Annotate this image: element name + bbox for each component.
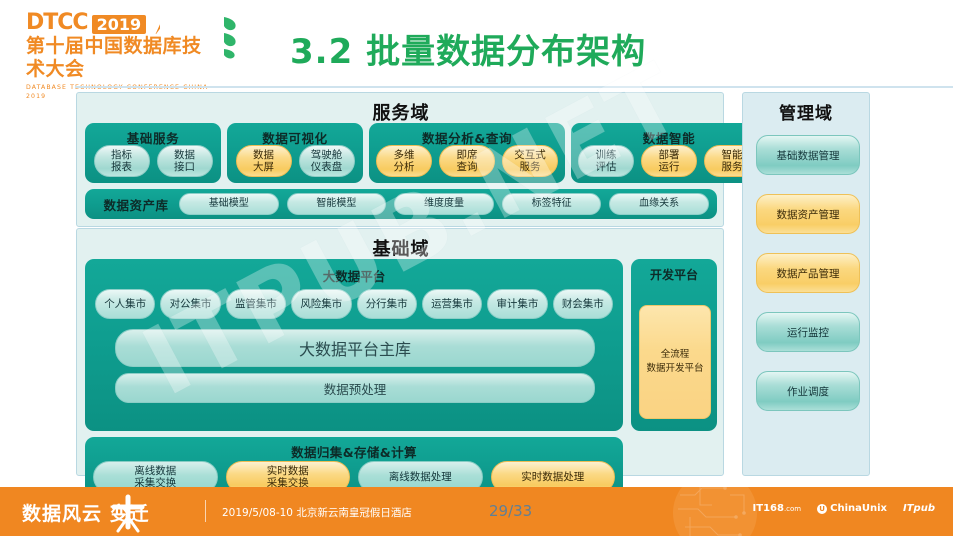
service-item-button[interactable]: 即席查询	[439, 145, 495, 177]
base-domain-panel: 基础域 大数据平台 个人集市对公集市监管集市风险集市分行集市运营集市审计集市财会…	[76, 228, 724, 476]
service-item-button[interactable]: 训练评估	[578, 145, 634, 177]
data-asset-library-label: 数据资产库	[93, 195, 179, 214]
market-pill[interactable]: 监管集市	[226, 289, 286, 319]
management-item-button[interactable]: 数据产品管理	[756, 253, 860, 293]
service-group-items: 数据大屏驾驶舱仪表盘	[227, 145, 363, 179]
dev-platform-title: 开发平台	[631, 266, 717, 283]
management-domain-title: 管理域	[743, 99, 869, 124]
market-pill[interactable]: 对公集市	[160, 289, 220, 319]
market-pill[interactable]: 风险集市	[291, 289, 351, 319]
dtcc-logo: DTCC 2019 第十届中国数据库技术大会 DATABASE TECHNOLO…	[26, 12, 216, 68]
service-group-items: 多维分析即席查询交互式服务	[369, 145, 565, 179]
market-pill[interactable]: 个人集市	[95, 289, 155, 319]
service-item-button[interactable]: 数据接口	[157, 145, 213, 177]
service-item-button[interactable]: 指标报表	[94, 145, 150, 177]
preprocess-bar: 数据预处理	[115, 373, 595, 403]
base-domain-title: 基础域	[77, 235, 725, 261]
it168-logo: IT168.com	[753, 503, 802, 514]
data-asset-item[interactable]: 血缘关系	[609, 193, 709, 215]
data-asset-item[interactable]: 维度度量	[394, 193, 494, 215]
management-item-button[interactable]: 数据资产管理	[756, 194, 860, 234]
footer-divider	[205, 500, 206, 522]
service-domain-groups: 基础服务指标报表数据接口数据可视化数据大屏驾驶舱仪表盘数据分析&查询多维分析即席…	[85, 123, 717, 183]
market-pill-row: 个人集市对公集市监管集市风险集市分行集市运营集市审计集市财会集市	[95, 289, 613, 319]
leaf-icon	[222, 14, 238, 60]
data-asset-item[interactable]: 智能模型	[287, 193, 387, 215]
service-item-button[interactable]: 多维分析	[376, 145, 432, 177]
service-group-card: 基础服务指标报表数据接口	[85, 123, 221, 183]
service-group-card: 数据智能训练评估部署运行智能服务	[571, 123, 767, 183]
service-item-button[interactable]: 部署运行	[641, 145, 697, 177]
service-group-card: 数据分析&查询多维分析即席查询交互式服务	[369, 123, 565, 183]
logo-top-row: DTCC 2019	[26, 12, 216, 34]
footer-logos: IT168.com U ChinaUnix ITpub	[753, 503, 935, 514]
management-domain-items: 基础数据管理数据资产管理数据产品管理运行监控作业调度	[756, 135, 858, 430]
dev-platform-card: 开发平台 全流程数据开发平台	[631, 259, 717, 431]
management-domain-panel: 管理域 基础数据管理数据资产管理数据产品管理运行监控作业调度	[742, 92, 870, 476]
dev-platform-box[interactable]: 全流程数据开发平台	[639, 305, 711, 419]
market-pill[interactable]: 运营集市	[422, 289, 482, 319]
logo-chinese-title: 第十届中国数据库技术大会	[26, 35, 216, 81]
footer-event-info: 2019/5/08-10 北京新云南皇冠假日酒店	[222, 505, 412, 520]
page-title: 3.2 批量数据分布架构	[290, 24, 646, 73]
service-group-card: 数据可视化数据大屏驾驶舱仪表盘	[227, 123, 363, 183]
collect-storage-compute-title: 数据归集&存储&计算	[85, 442, 623, 461]
itpub-logo: ITpub	[903, 503, 935, 514]
slide-footer: 数据风云 变迁 2019/5/08-10 北京新云南皇冠假日酒店 29/33 I…	[0, 487, 953, 536]
service-item-button[interactable]: 数据大屏	[236, 145, 292, 177]
slide-header: DTCC 2019 第十届中国数据库技术大会 DATABASE TECHNOLO…	[0, 0, 953, 88]
management-item-button[interactable]: 基础数据管理	[756, 135, 860, 175]
bigdata-platform-title: 大数据平台	[85, 266, 623, 285]
market-pill[interactable]: 财会集市	[553, 289, 613, 319]
bigdata-platform-card: 大数据平台 个人集市对公集市监管集市风险集市分行集市运营集市审计集市财会集市 大…	[85, 259, 623, 431]
service-domain-panel: 服务域 基础服务指标报表数据接口数据可视化数据大屏驾驶舱仪表盘数据分析&查询多维…	[76, 92, 724, 227]
service-group-2: 数据分析&查询多维分析即席查询交互式服务	[369, 123, 565, 183]
data-asset-library-bar: 数据资产库 基础模型智能模型维度度量标签特征血缘关系	[85, 189, 717, 219]
service-group-items: 训练评估部署运行智能服务	[571, 145, 767, 179]
market-pill[interactable]: 分行集市	[357, 289, 417, 319]
service-group-3: 数据智能训练评估部署运行智能服务	[571, 123, 767, 183]
service-item-button[interactable]: 交互式服务	[502, 145, 558, 177]
chinaunix-logo: U ChinaUnix	[817, 503, 887, 514]
service-item-button[interactable]: 驾驶舱仪表盘	[299, 145, 355, 177]
market-pill[interactable]: 审计集市	[487, 289, 547, 319]
service-domain-title: 服务域	[77, 99, 725, 125]
data-asset-library-card: 数据资产库 基础模型智能模型维度度量标签特征血缘关系	[85, 189, 717, 219]
page-number: 29/33	[489, 502, 532, 520]
service-group-items: 指标报表数据接口	[85, 145, 221, 179]
data-asset-library-items: 基础模型智能模型维度度量标签特征血缘关系	[179, 193, 709, 215]
service-group-0: 基础服务指标报表数据接口	[85, 123, 221, 183]
main-store-bar: 大数据平台主库	[115, 329, 595, 367]
data-asset-item[interactable]: 标签特征	[502, 193, 602, 215]
header-divider	[75, 86, 953, 88]
chinaunix-mark-icon: U	[817, 504, 827, 514]
service-group-1: 数据可视化数据大屏驾驶舱仪表盘	[227, 123, 363, 183]
logo-year-badge: 2019	[92, 15, 147, 34]
management-item-button[interactable]: 运行监控	[756, 312, 860, 352]
logo-dtcc-text: DTCC	[26, 12, 88, 34]
ten-years-icon	[108, 493, 148, 533]
management-item-button[interactable]: 作业调度	[756, 371, 860, 411]
logo-tick-icon	[150, 24, 160, 34]
data-asset-item[interactable]: 基础模型	[179, 193, 279, 215]
